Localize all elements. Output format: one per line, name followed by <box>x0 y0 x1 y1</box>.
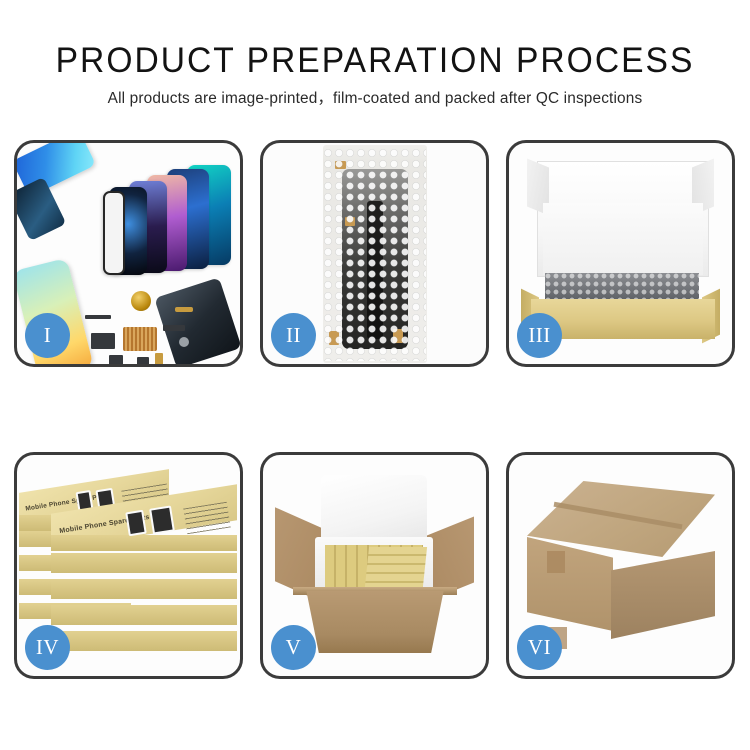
step-badge-4: IV <box>25 625 70 670</box>
vibrator-part-icon <box>137 357 149 364</box>
step-badge-3: III <box>517 313 562 358</box>
page-subtitle: All products are image-printed，film-coat… <box>0 89 750 109</box>
carton-right-face-icon <box>611 551 715 639</box>
step-badge-6: VI <box>517 625 562 670</box>
phone-lineup-icon <box>81 165 231 280</box>
box-right-4 <box>51 605 237 625</box>
box-thumbnail-d-icon <box>149 505 175 534</box>
page-title: PRODUCT PREPARATION PROCESS <box>15 40 735 82</box>
process-step-4[interactable]: Mobile Phone Spare Parts <box>14 452 243 679</box>
box-right-5 <box>51 631 237 651</box>
speaker-part-icon <box>131 291 151 311</box>
box-spec-lines-right <box>183 502 231 535</box>
carton-tape-upper-icon <box>547 551 565 573</box>
process-step-1[interactable]: I <box>14 140 243 367</box>
header: PRODUCT PREPARATION PROCESS All products… <box>0 0 750 109</box>
carton-left-face-icon <box>527 537 613 631</box>
camera-module-icon <box>91 333 115 349</box>
process-step-5[interactable]: V <box>260 452 489 679</box>
foam-lining-icon <box>543 203 703 275</box>
step-badge-5: V <box>271 625 316 670</box>
screen-protector-icon <box>103 191 125 275</box>
process-step-2[interactable]: II <box>260 140 489 367</box>
product-preparation-infographic: PRODUCT PREPARATION PROCESS All products… <box>0 0 750 750</box>
process-step-grid: I II <box>14 140 736 679</box>
process-step-3[interactable]: III <box>506 140 735 367</box>
flex-cable-part-icon <box>85 315 111 319</box>
screw-part-icon <box>155 353 163 364</box>
box-right-2 <box>51 553 237 573</box>
gold-connector-icon <box>175 307 193 312</box>
process-step-6[interactable]: VI <box>506 452 735 679</box>
blue-phone-back-icon <box>17 177 66 241</box>
box-right-3 <box>51 579 237 599</box>
step-badge-1: I <box>25 313 70 358</box>
box-thumbnail-c-icon <box>125 510 147 537</box>
foam-lid-icon <box>321 475 427 545</box>
carton-front-icon <box>297 591 453 653</box>
sim-tray-icon <box>109 355 123 364</box>
box-right-top: Mobile Phone Spare Parts <box>51 499 237 551</box>
bubble-texture-overlay <box>324 149 426 361</box>
logic-board-icon <box>123 327 157 351</box>
bubble-wrap-filler-icon <box>545 273 699 301</box>
yellow-boxes-row2-icon <box>365 547 427 587</box>
spare-parts-cluster <box>79 291 219 364</box>
ribbon-cable-icon <box>163 325 185 331</box>
button-part-icon <box>179 337 189 347</box>
step-badge-2: II <box>271 313 316 358</box>
